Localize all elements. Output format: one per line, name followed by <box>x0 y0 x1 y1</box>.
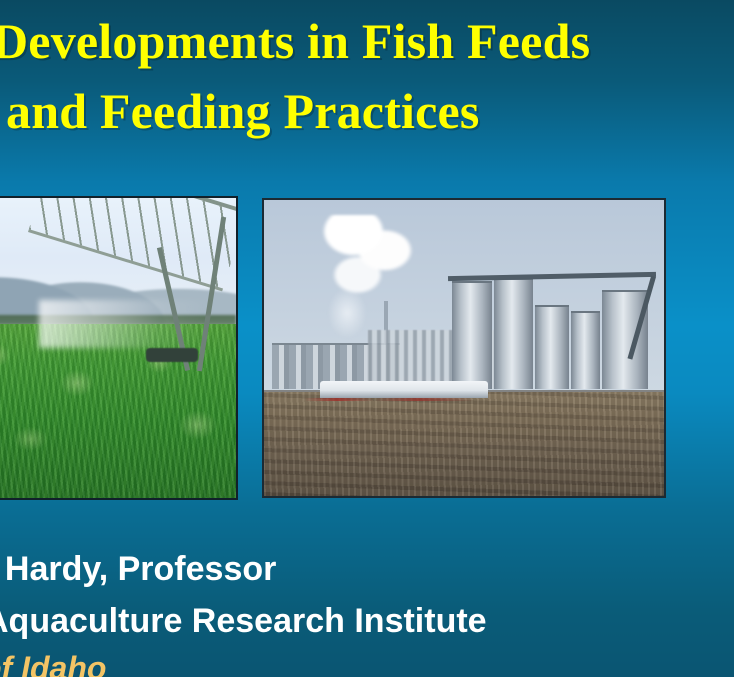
photo-silo <box>494 278 534 390</box>
center-pivot-irrigation-photo <box>0 196 238 500</box>
photo-silo <box>571 311 600 390</box>
photo-white-sheds <box>320 381 488 399</box>
presenter-university: of Idaho <box>0 650 106 677</box>
photo-bare-field <box>264 392 664 496</box>
photo-silo-group <box>448 241 656 389</box>
photo-conveyor-gantry <box>448 272 656 281</box>
presenter-organization: Aquaculture Research Institute <box>0 602 487 641</box>
presentation-slide: Developments in Fish Feeds and Feeding P… <box>0 0 734 677</box>
photo-red-equipment <box>304 398 488 401</box>
ethanol-plant-photo <box>262 198 666 498</box>
title-line-1: Developments in Fish Feeds <box>0 8 590 74</box>
photo-silo <box>602 290 648 390</box>
photo-silo <box>452 281 492 390</box>
title-line-2: and Feeding Practices <box>6 78 480 144</box>
photo-silo <box>535 305 568 390</box>
photo-pivot-wheel <box>146 348 198 362</box>
presenter-name: . Hardy, Professor <box>0 550 276 589</box>
